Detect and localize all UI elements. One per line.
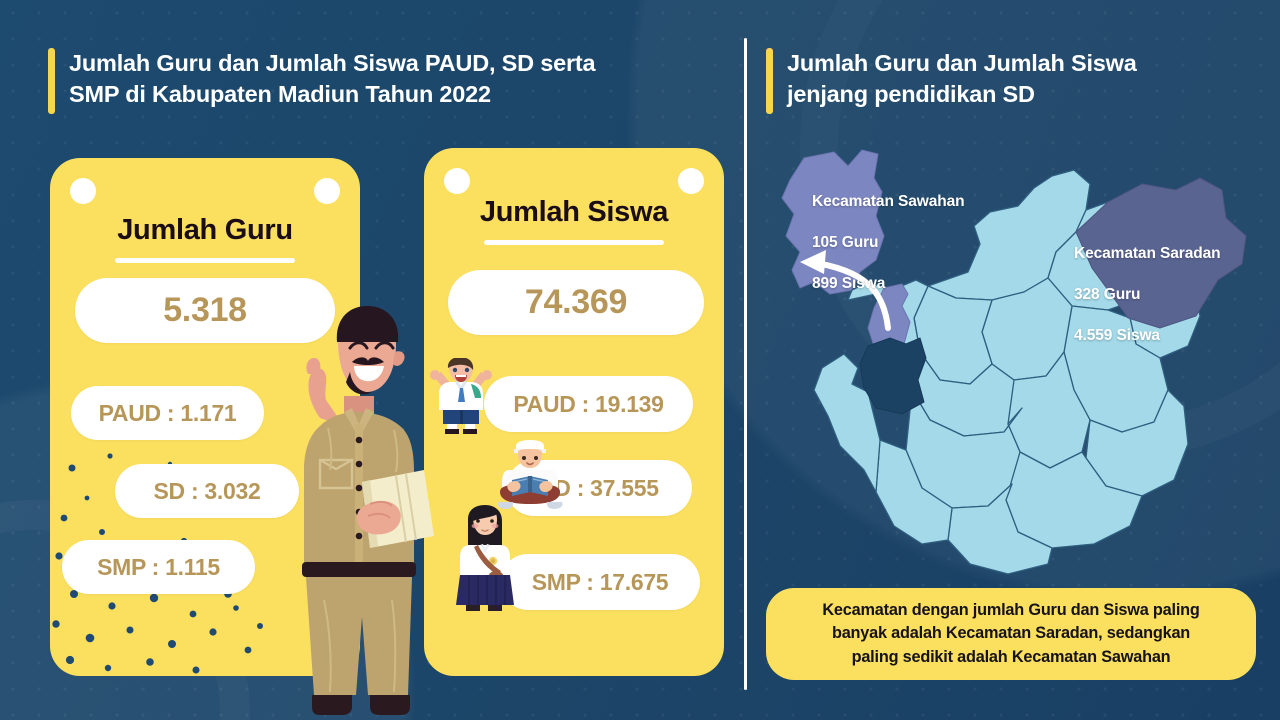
- card-hole-right: [314, 178, 340, 204]
- siswa-total-value: 74.369: [448, 270, 704, 335]
- summary-note: Kecamatan dengan jumlah Guru dan Siswa p…: [766, 588, 1256, 680]
- student-smp-illustration: [452, 505, 518, 615]
- siswa-smp-value: SMP : 17.675: [500, 554, 700, 610]
- card-hole-right-2: [678, 168, 704, 194]
- map-label-sawahan: Kecamatan Sawahan 105 Guru 899 Siswa: [812, 172, 965, 315]
- title-accent-bar: [48, 48, 55, 114]
- map-label-saradan-name: Kecamatan Saradan: [1074, 244, 1220, 264]
- student-paud-illustration: [427, 358, 495, 434]
- card-siswa-heading: Jumlah Siswa: [424, 196, 724, 229]
- map-label-sawahan-name: Kecamatan Sawahan: [812, 192, 965, 212]
- map-label-saradan: Kecamatan Saradan 328 Guru 4.559 Siswa: [1074, 224, 1220, 367]
- left-title-text: Jumlah Guru dan Jumlah Siswa PAUD, SD se…: [69, 48, 595, 111]
- map-label-saradan-students: 4.559 Siswa: [1074, 326, 1220, 346]
- card-siswa-underline: [484, 240, 664, 245]
- left-panel-title: Jumlah Guru dan Jumlah Siswa PAUD, SD se…: [48, 48, 595, 114]
- guru-smp-value: SMP : 1.115: [62, 540, 255, 594]
- card-guru-heading: Jumlah Guru: [50, 214, 360, 247]
- siswa-paud-value: PAUD : 19.139: [484, 376, 693, 432]
- map-label-saradan-teachers: 328 Guru: [1074, 285, 1220, 305]
- vertical-divider: [744, 38, 747, 690]
- map-label-sawahan-teachers: 105 Guru: [812, 233, 965, 253]
- guru-paud-value: PAUD : 1.171: [71, 386, 264, 440]
- map-label-sawahan-students: 899 Siswa: [812, 274, 965, 294]
- right-panel-title: Jumlah Guru dan Jumlah Siswa jenjang pen…: [766, 48, 1137, 114]
- card-hole-left-2: [444, 168, 470, 194]
- card-hole-left: [70, 178, 96, 204]
- card-guru-underline: [115, 258, 295, 263]
- right-title-text: Jumlah Guru dan Jumlah Siswa jenjang pen…: [787, 48, 1137, 111]
- title-accent-bar-right: [766, 48, 773, 114]
